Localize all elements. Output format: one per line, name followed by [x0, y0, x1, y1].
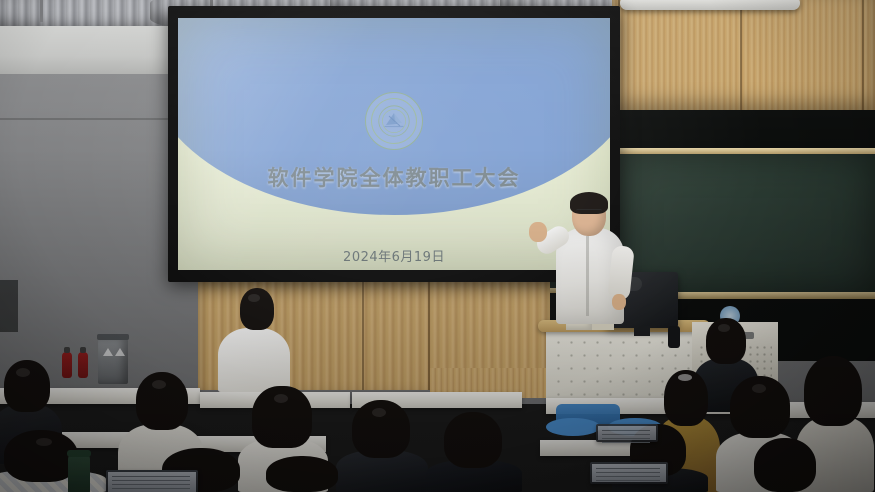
open-laptop [106, 470, 198, 492]
university-emblem-icon [365, 92, 423, 150]
wall-edge-shadow [0, 280, 18, 332]
wood-wall-panel [612, 0, 875, 112]
audience-member [218, 288, 290, 392]
open-laptop [596, 424, 658, 442]
presenter-right-hand [612, 294, 626, 310]
chair-seat [546, 418, 600, 436]
monitor-stand [634, 326, 650, 336]
duct-hanger [40, 0, 43, 22]
microphone [668, 326, 680, 348]
slide-logo-area [178, 92, 610, 150]
audience-member [744, 438, 836, 492]
room: 软件学院全体教职工大会 2024年6月19日 [0, 0, 875, 492]
presenter-left-hand [529, 222, 547, 242]
open-laptop [590, 462, 668, 484]
lecture-hall-photo: 软件学院全体教职工大会 2024年6月19日 [0, 0, 875, 492]
audience-member-foreground [262, 456, 358, 492]
glasses-icon [576, 209, 602, 216]
audience-member-foreground [0, 430, 106, 492]
slide-title: 软件学院全体教职工大会 [178, 162, 610, 192]
board-backing [612, 110, 875, 152]
audience-member [426, 412, 522, 492]
fire-extinguisher [78, 352, 88, 378]
shirt-placket [586, 236, 589, 316]
water-bottle [68, 455, 90, 492]
ceiling-light-fixture [620, 0, 800, 10]
fire-extinguisher [62, 352, 72, 378]
